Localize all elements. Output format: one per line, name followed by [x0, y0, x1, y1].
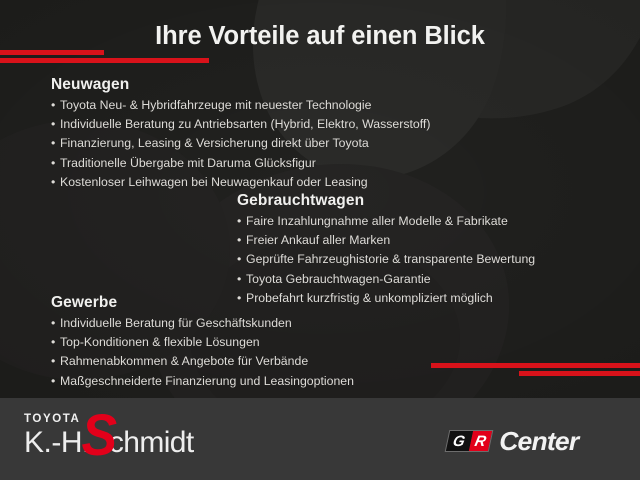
bullet-icon: • — [237, 231, 246, 250]
bullet-icon: • — [51, 333, 60, 352]
list-item-text: Faire Inzahlungnahme aller Modelle & Fab… — [246, 214, 508, 228]
list-item: •Geprüfte Fahrzeughistorie & transparent… — [237, 250, 535, 269]
bullet-icon: • — [51, 173, 60, 192]
dealer-name-suffix: chmidt — [109, 426, 194, 459]
bullet-icon: • — [51, 352, 60, 371]
section-heading: Neuwagen — [51, 76, 430, 94]
list-item: •Individuelle Beratung für Geschäftskund… — [51, 314, 354, 333]
dealer-logo: TOYOTA K.-H.chmidt S — [24, 410, 254, 470]
list-item-text: Freier Ankauf aller Marken — [246, 233, 390, 247]
list-item: •Traditionelle Übergabe mit Daruma Glück… — [51, 154, 430, 173]
accent-bar-bottom-right-lower — [519, 371, 640, 376]
gr-badge-icon: G R — [445, 430, 494, 452]
list-item-text: Toyota Gebrauchtwagen-Garantie — [246, 272, 431, 286]
section-list: •Toyota Neu- & Hybridfahrzeuge mit neues… — [51, 96, 430, 192]
bullet-icon: • — [51, 115, 60, 134]
section-heading: Gewerbe — [51, 294, 354, 312]
list-item-text: Individuelle Beratung für Geschäftskunde… — [60, 316, 292, 330]
list-item-text: Traditionelle Übergabe mit Daruma Glücks… — [60, 156, 316, 170]
slide-title: Ihre Vorteile auf einen Blick — [0, 22, 640, 51]
list-item-text: Finanzierung, Leasing & Versicherung dir… — [60, 136, 369, 150]
bullet-icon: • — [51, 154, 60, 173]
bullet-icon: • — [51, 134, 60, 153]
gr-center-logo: G R Center — [447, 424, 578, 458]
list-item: •Individuelle Beratung zu Antriebsarten … — [51, 115, 430, 134]
bullet-icon: • — [237, 250, 246, 269]
accent-bar-bottom-right-upper — [431, 363, 640, 368]
section-gewerbe: Gewerbe •Individuelle Beratung für Gesch… — [51, 294, 354, 391]
bullet-icon: • — [237, 270, 246, 289]
section-list: •Individuelle Beratung für Geschäftskund… — [51, 314, 354, 391]
list-item: •Rahmenabkommen & Angebote für Verbände — [51, 352, 354, 371]
dealer-logo-s-mark: S — [82, 407, 118, 465]
section-heading: Gebrauchtwagen — [237, 192, 535, 210]
list-item-text: Geprüfte Fahrzeughistorie & transparente… — [246, 252, 535, 266]
list-item: •Freier Ankauf aller Marken — [237, 231, 535, 250]
list-item: •Top-Konditionen & flexible Lösungen — [51, 333, 354, 352]
bullet-icon: • — [237, 212, 246, 231]
accent-bar-top-left-lower — [0, 58, 209, 63]
accent-bar-top-left-upper — [0, 50, 104, 55]
list-item: •Toyota Gebrauchtwagen-Garantie — [237, 270, 535, 289]
section-neuwagen: Neuwagen •Toyota Neu- & Hybridfahrzeuge … — [51, 76, 430, 192]
list-item-text: Maßgeschneiderte Finanzierung und Leasin… — [60, 374, 354, 388]
list-item: •Maßgeschneiderte Finanzierung und Leasi… — [51, 372, 354, 391]
bullet-icon: • — [51, 372, 60, 391]
toyota-wordmark: TOYOTA — [24, 413, 80, 425]
list-item-text: Rahmenabkommen & Angebote für Verbände — [60, 354, 308, 368]
list-item-text: Top-Konditionen & flexible Lösungen — [60, 335, 260, 349]
list-item-text: Individuelle Beratung zu Antriebsarten (… — [60, 117, 430, 131]
list-item-text: Kostenloser Leihwagen bei Neuwagenkauf o… — [60, 175, 368, 189]
bullet-icon: • — [51, 96, 60, 115]
slide-root: Ihre Vorteile auf einen Blick Neuwagen •… — [0, 0, 640, 480]
list-item: •Faire Inzahlungnahme aller Modelle & Fa… — [237, 212, 535, 231]
list-item: •Finanzierung, Leasing & Versicherung di… — [51, 134, 430, 153]
dealer-name-prefix: K.-H. — [24, 426, 90, 459]
list-item: •Kostenloser Leihwagen bei Neuwagenkauf … — [51, 173, 430, 192]
list-item: •Toyota Neu- & Hybridfahrzeuge mit neues… — [51, 96, 430, 115]
list-item-text: Toyota Neu- & Hybridfahrzeuge mit neuest… — [60, 98, 371, 112]
gr-center-wordmark: Center — [499, 426, 578, 457]
section-gebrauchtwagen: Gebrauchtwagen •Faire Inzahlungnahme all… — [237, 192, 535, 308]
bullet-icon: • — [51, 314, 60, 333]
gr-badge-r: R — [469, 431, 492, 451]
